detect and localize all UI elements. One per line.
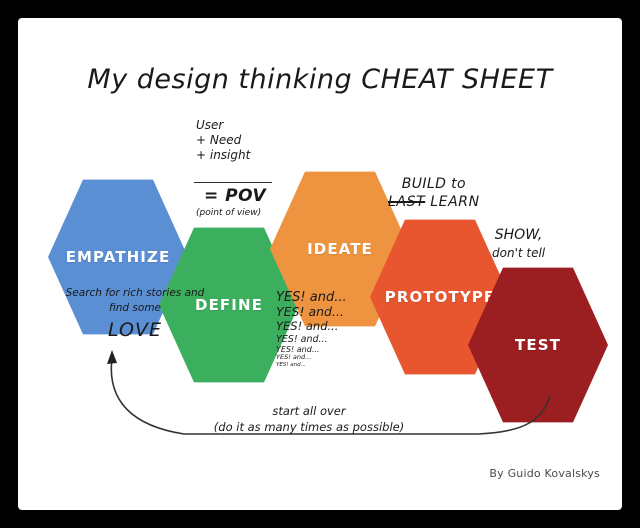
pov-result: = POV <box>204 186 266 207</box>
empathize-note-emphasis: LOVE <box>60 317 210 345</box>
pov-subtitle: (point of view) <box>196 208 261 219</box>
test-note: SHOW, don't tell <box>492 226 545 261</box>
yes-and-line: YES! and... <box>276 320 347 334</box>
yes-and-line: YES! and... <box>276 290 347 305</box>
pov-formula-line3: + insight <box>196 148 292 163</box>
empathize-note: Search for rich stories and find some LO… <box>60 286 210 345</box>
loop-note-line1: start all over <box>272 404 345 418</box>
prototype-note-kept-word: LEARN <box>430 194 479 210</box>
stage-label-empathize: Empathize <box>66 248 171 266</box>
stage-label-ideate: Ideate <box>307 240 373 258</box>
yes-and-line: YES! and... <box>276 362 347 368</box>
empathize-note-line1: Search for rich <box>66 287 143 299</box>
pov-formula-line1: User <box>196 118 292 133</box>
pov-formula: User + Need + insight <box>196 118 292 163</box>
stage-label-test: Test <box>515 336 561 354</box>
pov-divider-line <box>194 182 272 183</box>
test-note-line1: SHOW, <box>495 227 543 243</box>
yes-and-line: YES! and... <box>276 334 347 345</box>
loop-note: start all over (do it as many times as p… <box>184 403 434 435</box>
yes-and-line: YES! and... <box>276 305 347 320</box>
loop-note-line2: (do it as many times as possible) <box>214 420 404 434</box>
test-note-line2: don't tell <box>492 245 545 261</box>
prototype-note-line2: LAST LEARN <box>388 193 480 211</box>
prototype-note: BUILD to LAST LEARN <box>388 175 480 211</box>
ideate-yes-and-stack: YES! and... YES! and... YES! and... YES!… <box>276 290 347 368</box>
prototype-note-line1: BUILD to <box>402 176 466 192</box>
pov-formula-line2: + Need <box>196 133 292 148</box>
prototype-note-struck-word: LAST <box>388 194 425 210</box>
page-title: My design thinking CHEAT SHEET <box>18 64 622 95</box>
yes-and-line: YES! and... <box>276 354 347 362</box>
poster-frame: My design thinking CHEAT SHEET Empathize… <box>0 0 640 528</box>
stage-label-prototype: Prototype <box>385 288 496 306</box>
author-credit: By Guido Kovalskys <box>489 467 600 480</box>
diagram-canvas: My design thinking CHEAT SHEET Empathize… <box>18 18 622 510</box>
